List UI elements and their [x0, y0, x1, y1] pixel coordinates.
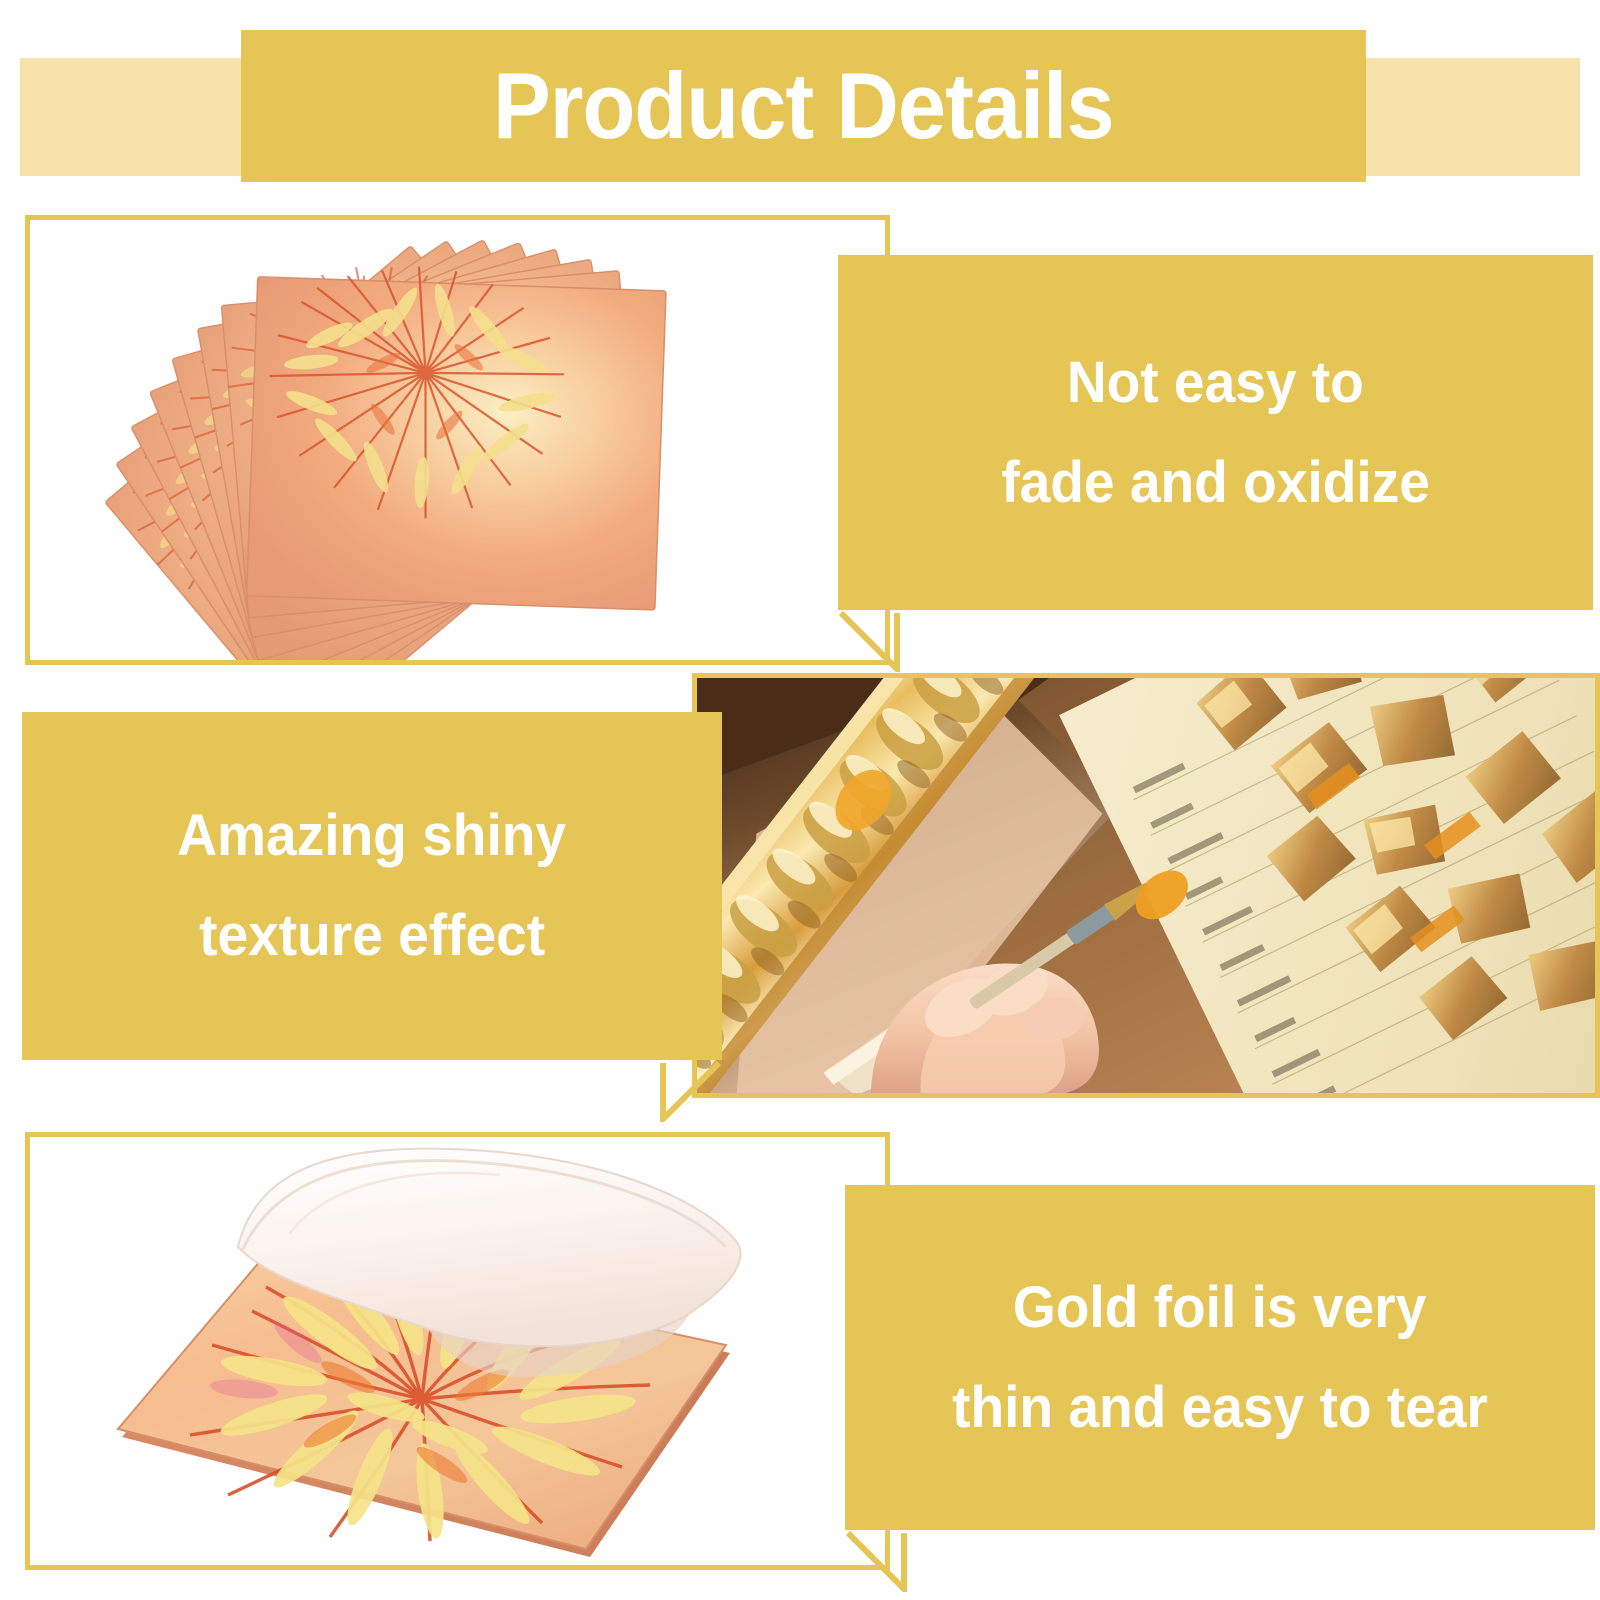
callout-not-easy-to-fade: Not easy to fade and oxidize: [838, 255, 1593, 610]
callout-gold-foil-thin: Gold foil is very thin and easy to tear: [845, 1185, 1595, 1530]
callout-tail-amazing-shiny-texture: [660, 1060, 722, 1122]
fanned-foil-stack-art: [30, 220, 885, 660]
photo-gilding-ornate-frame: [697, 678, 1595, 1093]
page-title: Product Details: [493, 59, 1114, 153]
header-title-banner: Product Details: [241, 30, 1366, 182]
foil-sheet-with-tissue-art: [30, 1137, 885, 1565]
callout-line: Not easy to: [1067, 333, 1364, 433]
photo-frame-fanned-foil-stack: [25, 215, 890, 665]
photo-foil-sheet-with-tissue: [30, 1137, 885, 1565]
photo-frame-gilding-ornate-frame: [692, 673, 1600, 1098]
product-details-infographic: Product Details: [0, 0, 1600, 1600]
callout-line: Amazing shiny: [178, 786, 567, 886]
callout-tail-not-easy-to-fade: [838, 610, 900, 672]
callout-line: thin and easy to tear: [952, 1358, 1488, 1458]
callout-amazing-shiny-texture: Amazing shiny texture effect: [22, 712, 722, 1060]
callout-line: texture effect: [199, 886, 545, 986]
photo-frame-foil-sheet-with-tissue: [25, 1132, 890, 1570]
callout-tail-gold-foil-thin: [845, 1530, 907, 1592]
callout-line: fade and oxidize: [1001, 433, 1430, 533]
gilding-ornate-frame-art: [697, 678, 1595, 1093]
callout-line: Gold foil is very: [1013, 1258, 1426, 1358]
photo-fanned-foil-stack: [30, 220, 885, 660]
